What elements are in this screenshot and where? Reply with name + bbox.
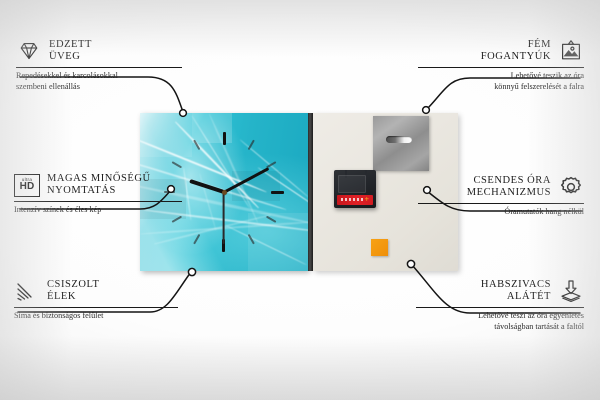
divider <box>418 67 584 68</box>
feature-title: CSENDES ÓRA MECHANIZMUS <box>467 175 551 200</box>
feature-description: Repedésekkel és karcolásokkal szembeni e… <box>16 71 182 92</box>
feature-description: Sima és biztonságos felület <box>14 311 178 322</box>
feature-high-quality-print: ultra HD MAGAS MINŐSÉGŰ NYOMTATÁS Intenz… <box>14 172 182 216</box>
hd-badge-bottom: HD <box>20 182 35 192</box>
feature-title: HABSZIVACS ALÁTÉT <box>481 279 551 304</box>
feature-title: MAGAS MINŐSÉGŰ NYOMTATÁS <box>47 173 151 198</box>
foam-pad-arrow-icon <box>558 278 584 304</box>
feature-silent-mechanism: CSENDES ÓRA MECHANIZMUS Óramutatók hang … <box>418 174 584 218</box>
feature-metal-handles: FÉM FOGANTYÚK Lehetővé teszik az óra kön… <box>418 38 584 92</box>
gear-icon <box>558 174 584 200</box>
feature-description: Óramutatók hang nélkül <box>418 207 584 218</box>
connector-endpoint-foam-backing <box>407 260 414 267</box>
feature-foam-backing: HABSZIVACS ALÁTÉT Lehetővé teszi az óra … <box>416 278 584 332</box>
divider <box>14 307 178 308</box>
feature-tempered-glass: EDZETT ÜVEG Repedésekkel és karcolásokka… <box>16 38 182 92</box>
feature-description: Intenzív színek és éles kép <box>14 205 182 216</box>
divider <box>16 67 182 68</box>
feature-title: EDZETT ÜVEG <box>49 39 92 64</box>
divider <box>418 203 584 204</box>
connector-endpoint-tempered-glass <box>180 110 187 117</box>
feature-title: CSISZOLT ÉLEK <box>47 279 99 304</box>
feature-description: Lehetővé teszik az óra könnyű felszerelé… <box>418 71 584 92</box>
connector-endpoint-metal-handles <box>423 107 430 114</box>
feature-polished-edges: CSISZOLT ÉLEK Sima és biztonságos felüle… <box>14 278 178 322</box>
connector-endpoint-polished-edges <box>188 268 195 275</box>
product-infographic: + <box>0 0 600 400</box>
divider <box>14 201 182 202</box>
feature-description: Lehetővé teszi az óra egyenletes távolsá… <box>416 311 584 332</box>
polished-edges-icon <box>14 278 40 304</box>
feature-title: FÉM FOGANTYÚK <box>481 39 551 64</box>
diamond-icon <box>16 38 42 64</box>
divider <box>416 307 584 308</box>
ultra-hd-icon: ultra HD <box>14 172 40 198</box>
picture-frame-icon <box>558 38 584 64</box>
